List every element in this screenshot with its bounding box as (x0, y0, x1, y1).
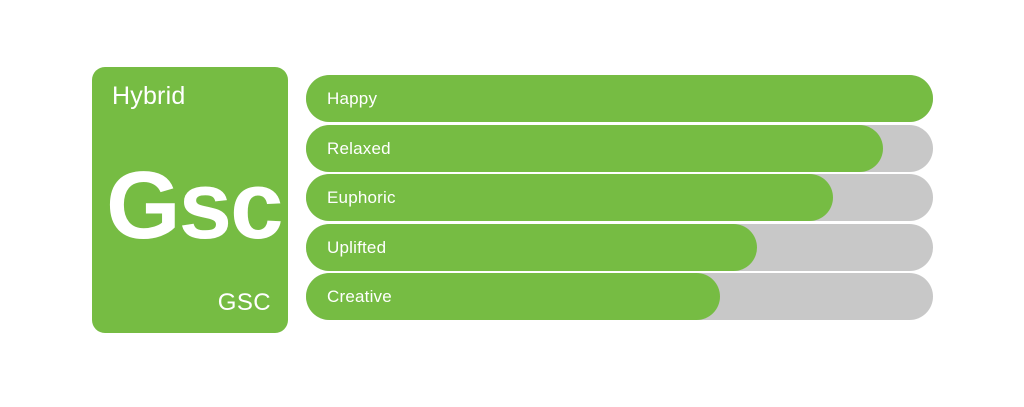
effect-row[interactable]: Euphoric (306, 174, 933, 221)
strain-logo-text: Gsc (106, 167, 274, 246)
effect-label: Happy (327, 75, 377, 122)
effect-fill (306, 125, 883, 172)
strain-type-label: Hybrid (112, 84, 185, 109)
effect-label: Euphoric (327, 174, 396, 221)
effect-row[interactable]: Creative (306, 273, 933, 320)
effect-fill (306, 75, 933, 122)
effect-row[interactable]: Uplifted (306, 224, 933, 271)
effect-label: Creative (327, 273, 392, 320)
effects-infographic: Hybrid Gsc GSC Happy Relaxed Euphoric Up… (0, 0, 1024, 407)
strain-card[interactable]: Hybrid Gsc GSC (92, 67, 288, 333)
effect-label: Uplifted (327, 224, 386, 271)
effect-label: Relaxed (327, 125, 391, 172)
effects-bar-chart: Happy Relaxed Euphoric Uplifted Creative (306, 75, 933, 323)
strain-name-label: GSC (218, 291, 271, 315)
effect-row[interactable]: Happy (306, 75, 933, 122)
effect-row[interactable]: Relaxed (306, 125, 933, 172)
